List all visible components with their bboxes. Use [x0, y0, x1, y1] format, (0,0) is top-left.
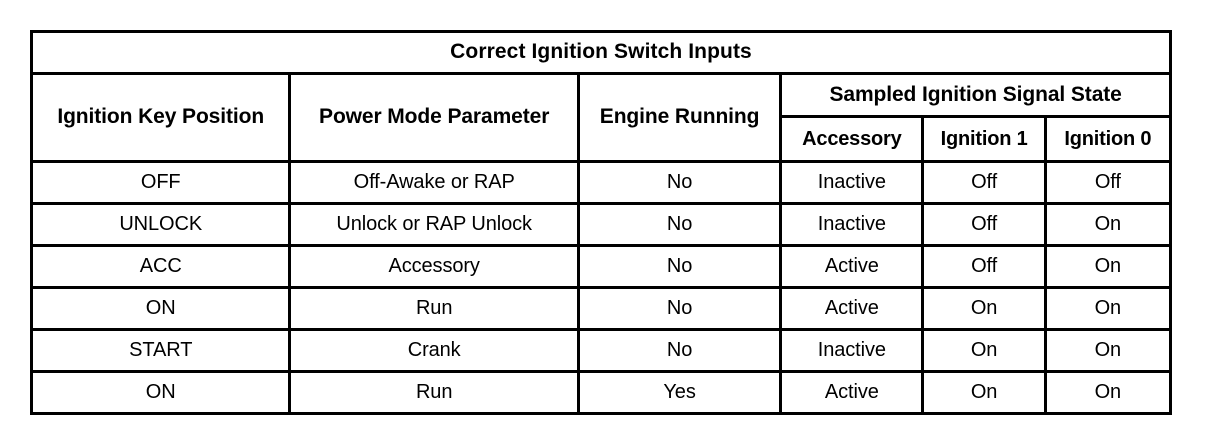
header-row-primary: Ignition Key Position Power Mode Paramet…: [32, 74, 1171, 117]
table-row: OFF Off-Awake or RAP No Inactive Off Off: [32, 162, 1171, 204]
cell-ignition-0: On: [1045, 372, 1170, 414]
ignition-switch-inputs-table: Correct Ignition Switch Inputs Ignition …: [30, 30, 1172, 415]
cell-engine-running: Yes: [578, 372, 780, 414]
cell-ignition-1: On: [923, 288, 1045, 330]
column-header-sampled-ignition-signal-state: Sampled Ignition Signal State: [781, 74, 1171, 117]
table-row: ON Run Yes Active On On: [32, 372, 1171, 414]
table-body: OFF Off-Awake or RAP No Inactive Off Off…: [32, 162, 1171, 414]
cell-accessory: Active: [781, 372, 923, 414]
column-header-accessory: Accessory: [781, 117, 923, 162]
page-root: Correct Ignition Switch Inputs Ignition …: [0, 0, 1216, 442]
cell-power-mode: Unlock or RAP Unlock: [290, 204, 578, 246]
cell-key-position: UNLOCK: [32, 204, 290, 246]
table-row: UNLOCK Unlock or RAP Unlock No Inactive …: [32, 204, 1171, 246]
cell-power-mode: Crank: [290, 330, 578, 372]
cell-key-position: ON: [32, 288, 290, 330]
cell-accessory: Active: [781, 288, 923, 330]
cell-accessory: Inactive: [781, 204, 923, 246]
table-header: Correct Ignition Switch Inputs Ignition …: [32, 32, 1171, 162]
table-row: ACC Accessory No Active Off On: [32, 246, 1171, 288]
cell-engine-running: No: [578, 288, 780, 330]
table-title: Correct Ignition Switch Inputs: [32, 32, 1171, 74]
cell-ignition-0: On: [1045, 288, 1170, 330]
table-row: START Crank No Inactive On On: [32, 330, 1171, 372]
cell-key-position: START: [32, 330, 290, 372]
cell-accessory: Active: [781, 246, 923, 288]
cell-key-position: ON: [32, 372, 290, 414]
cell-key-position: OFF: [32, 162, 290, 204]
cell-ignition-1: On: [923, 330, 1045, 372]
cell-engine-running: No: [578, 330, 780, 372]
cell-engine-running: No: [578, 204, 780, 246]
cell-accessory: Inactive: [781, 162, 923, 204]
cell-ignition-0: On: [1045, 204, 1170, 246]
cell-accessory: Inactive: [781, 330, 923, 372]
cell-engine-running: No: [578, 162, 780, 204]
cell-ignition-0: Off: [1045, 162, 1170, 204]
column-header-power-mode-parameter: Power Mode Parameter: [290, 74, 578, 162]
table-title-row: Correct Ignition Switch Inputs: [32, 32, 1171, 74]
cell-ignition-1: Off: [923, 246, 1045, 288]
column-header-ignition-1: Ignition 1: [923, 117, 1045, 162]
cell-ignition-1: On: [923, 372, 1045, 414]
cell-power-mode: Off-Awake or RAP: [290, 162, 578, 204]
cell-key-position: ACC: [32, 246, 290, 288]
cell-ignition-1: Off: [923, 204, 1045, 246]
column-header-engine-running: Engine Running: [578, 74, 780, 162]
column-header-ignition-0: Ignition 0: [1045, 117, 1170, 162]
cell-ignition-0: On: [1045, 330, 1170, 372]
cell-ignition-0: On: [1045, 246, 1170, 288]
cell-power-mode: Accessory: [290, 246, 578, 288]
cell-power-mode: Run: [290, 372, 578, 414]
cell-ignition-1: Off: [923, 162, 1045, 204]
cell-power-mode: Run: [290, 288, 578, 330]
table-row: ON Run No Active On On: [32, 288, 1171, 330]
cell-engine-running: No: [578, 246, 780, 288]
column-header-ignition-key-position: Ignition Key Position: [32, 74, 290, 162]
